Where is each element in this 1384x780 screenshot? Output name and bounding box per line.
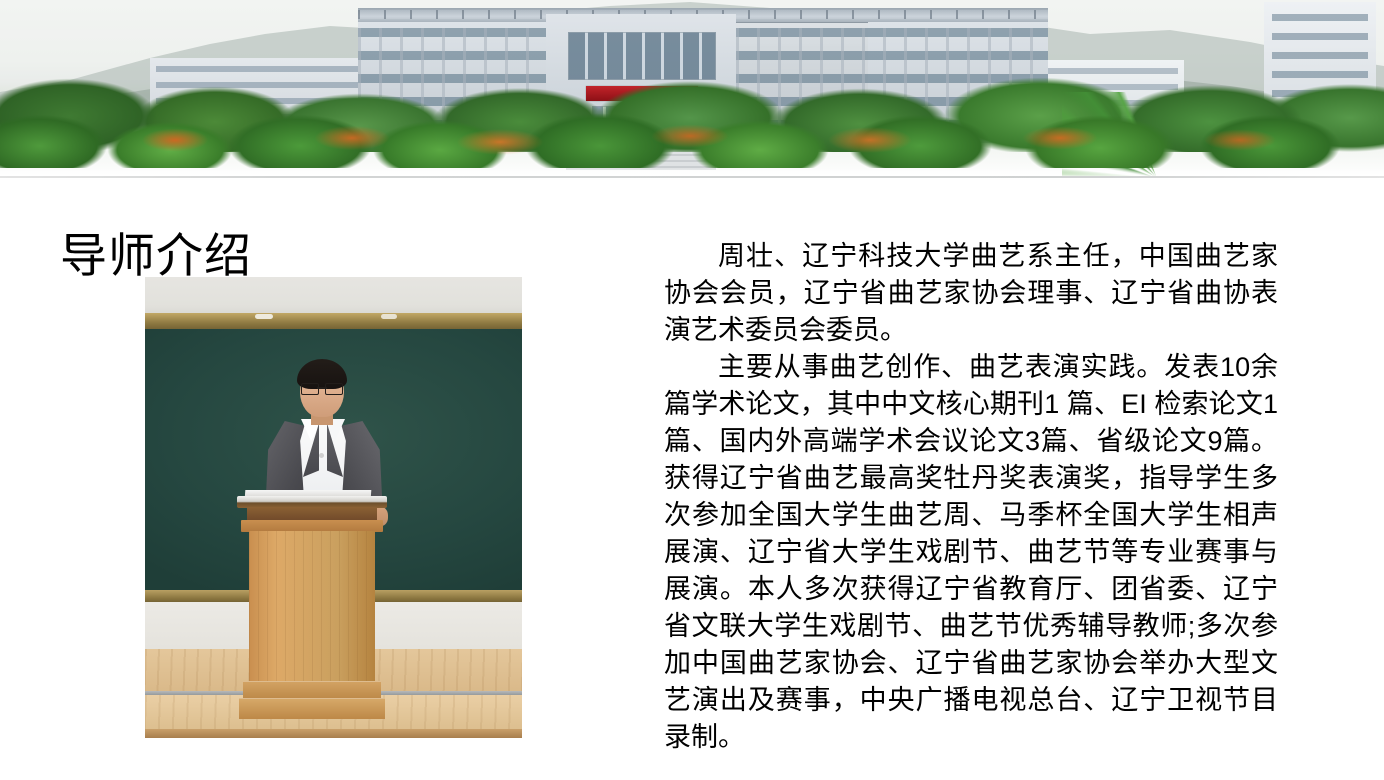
slide-root: 导师介绍 周壮、辽宁科技大学曲艺系 xyxy=(0,0,1384,780)
podium-body xyxy=(249,531,375,683)
clip-microphone-icon xyxy=(319,453,324,458)
instructor-photo xyxy=(145,277,522,738)
podium-base-lower xyxy=(239,698,385,719)
page-title: 导师介绍 xyxy=(60,231,252,282)
banner-divider-line xyxy=(0,176,1384,178)
podium-neck xyxy=(247,507,377,521)
stage-front-edge xyxy=(145,729,522,738)
campus-header-photo xyxy=(0,0,1384,178)
chalk-piece-icon xyxy=(255,314,273,319)
flowering-shrubs xyxy=(0,114,1384,158)
bio-paragraph-1: 周壮、辽宁科技大学曲艺系主任，中国曲艺家协会会员，辽宁省曲艺家协会理事、辽宁省曲… xyxy=(664,238,1278,349)
instructor-bio-text: 周壮、辽宁科技大学曲艺系主任，中国曲艺家协会会员，辽宁省曲艺家协会理事、辽宁省曲… xyxy=(664,238,1278,756)
chalk-piece-icon xyxy=(381,314,397,319)
classroom-wall xyxy=(145,277,522,317)
bio-paragraph-2: 主要从事曲艺创作、曲艺表演实践。发表10余篇学术论文，其中中文核心期刊1 篇、E… xyxy=(664,349,1278,756)
glasses-bridge xyxy=(317,387,327,389)
